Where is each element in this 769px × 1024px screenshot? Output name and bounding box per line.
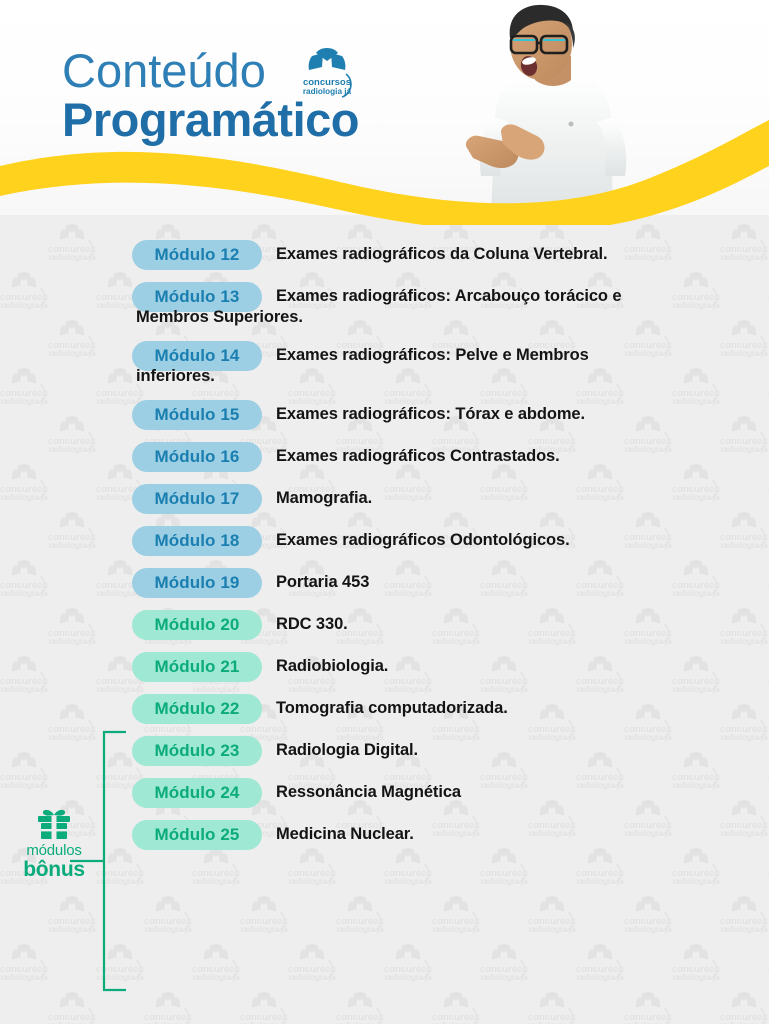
- module-description: Ressonância Magnética: [262, 782, 461, 803]
- module-description: Exames radiográficos Contrastados.: [262, 446, 560, 467]
- module-badge[interactable]: Módulo 24: [132, 778, 262, 808]
- module-row: Módulo 16Exames radiográficos Contrastad…: [0, 442, 769, 472]
- page-root: Conteúdo Programático concursos radiolog…: [0, 0, 769, 1024]
- module-badge[interactable]: Módulo 18: [132, 526, 262, 556]
- module-description-line1: RDC 330.: [276, 615, 348, 633]
- module-description-line2: Membros Superiores.: [136, 307, 769, 328]
- module-row: Módulo 24Ressonância Magnética: [0, 778, 769, 808]
- module-description-line1: Exames radiográficos da Coluna Vertebral…: [276, 245, 608, 263]
- module-badge[interactable]: Módulo 22: [132, 694, 262, 724]
- module-description: Exames radiográficos: Pelve e Membrosinf…: [262, 345, 769, 388]
- module-badge[interactable]: Módulo 15: [132, 400, 262, 430]
- module-description-line1: Portaria 453: [276, 573, 369, 591]
- module-description-line1: Radiologia Digital.: [276, 741, 418, 759]
- module-description-line1: Exames radiográficos: Arcabouço torácico…: [276, 287, 621, 305]
- module-row: Módulo 13Exames radiográficos: Arcabouço…: [0, 282, 769, 329]
- module-badge[interactable]: Módulo 23: [132, 736, 262, 766]
- module-description: Exames radiográficos da Coluna Vertebral…: [262, 244, 608, 265]
- module-list: Módulo 12Exames radiográficos da Coluna …: [0, 240, 769, 862]
- module-badge[interactable]: Módulo 12: [132, 240, 262, 270]
- module-description: Radiobiologia.: [262, 656, 388, 677]
- module-description-line1: Exames radiográficos: Pelve e Membros: [276, 346, 589, 364]
- header: Conteúdo Programático concursos radiolog…: [0, 0, 769, 225]
- module-row: Módulo 12Exames radiográficos da Coluna …: [0, 240, 769, 270]
- module-row: Módulo 19Portaria 453: [0, 568, 769, 598]
- module-description: Medicina Nuclear.: [262, 824, 414, 845]
- module-row: Módulo 18Exames radiográficos Odontológi…: [0, 526, 769, 556]
- module-row: Módulo 14Exames radiográficos: Pelve e M…: [0, 341, 769, 388]
- module-row: Módulo 25Medicina Nuclear.: [0, 820, 769, 850]
- module-badge[interactable]: Módulo 19: [132, 568, 262, 598]
- module-row: Módulo 21Radiobiologia.: [0, 652, 769, 682]
- radiation-trefoil-logo-icon: concursos radiologia já: [296, 44, 358, 106]
- module-description: Exames radiográficos Odontológicos.: [262, 530, 570, 551]
- module-description: Exames radiográficos: Arcabouço torácico…: [262, 286, 769, 329]
- module-description: Portaria 453: [262, 572, 369, 593]
- module-badge[interactable]: Módulo 20: [132, 610, 262, 640]
- module-badge[interactable]: Módulo 17: [132, 484, 262, 514]
- module-row: Módulo 15Exames radiográficos: Tórax e a…: [0, 400, 769, 430]
- module-description-line1: Medicina Nuclear.: [276, 825, 414, 843]
- module-description-line1: Exames radiográficos: Tórax e abdome.: [276, 405, 585, 423]
- module-description: Radiologia Digital.: [262, 740, 418, 761]
- module-row: Módulo 22Tomografia computadorizada.: [0, 694, 769, 724]
- module-description-line1: Ressonância Magnética: [276, 783, 461, 801]
- module-description-line1: Exames radiográficos Contrastados.: [276, 447, 560, 465]
- module-row: Módulo 20RDC 330.: [0, 610, 769, 640]
- module-description-line1: Exames radiográficos Odontológicos.: [276, 531, 570, 549]
- module-row: Módulo 17Mamografia.: [0, 484, 769, 514]
- module-description: Mamografia.: [262, 488, 372, 509]
- module-description-line1: Radiobiologia.: [276, 657, 388, 675]
- module-description: Exames radiográficos: Tórax e abdome.: [262, 404, 585, 425]
- module-badge[interactable]: Módulo 16: [132, 442, 262, 472]
- module-description-line2: inferiores.: [136, 366, 769, 387]
- module-description-line1: Tomografia computadorizada.: [276, 699, 508, 717]
- module-description: Tomografia computadorizada.: [262, 698, 508, 719]
- module-badge[interactable]: Módulo 21: [132, 652, 262, 682]
- module-description: RDC 330.: [262, 614, 348, 635]
- module-badge[interactable]: Módulo 25: [132, 820, 262, 850]
- module-row: Módulo 23Radiologia Digital.: [0, 736, 769, 766]
- module-description-line1: Mamografia.: [276, 489, 372, 507]
- logo-text-line2: radiologia já: [303, 87, 352, 96]
